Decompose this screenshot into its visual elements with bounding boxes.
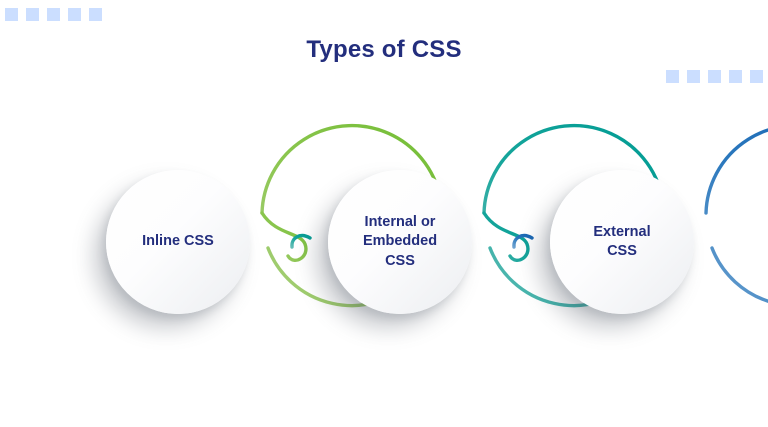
node-internal-embedded-css[interactable]: Internal or Embedded CSS	[310, 152, 490, 332]
node-inline-css[interactable]: Inline CSS	[88, 152, 268, 332]
css-types-chain-diagram: Inline CSS Internal or Embedded CSS Exte…	[0, 0, 768, 427]
node-label-external-css: External CSS	[550, 170, 694, 314]
node-label-inline-css: Inline CSS	[106, 170, 250, 314]
node-label-internal-embedded-css: Internal or Embedded CSS	[328, 170, 472, 314]
node-external-css[interactable]: External CSS	[532, 152, 712, 332]
